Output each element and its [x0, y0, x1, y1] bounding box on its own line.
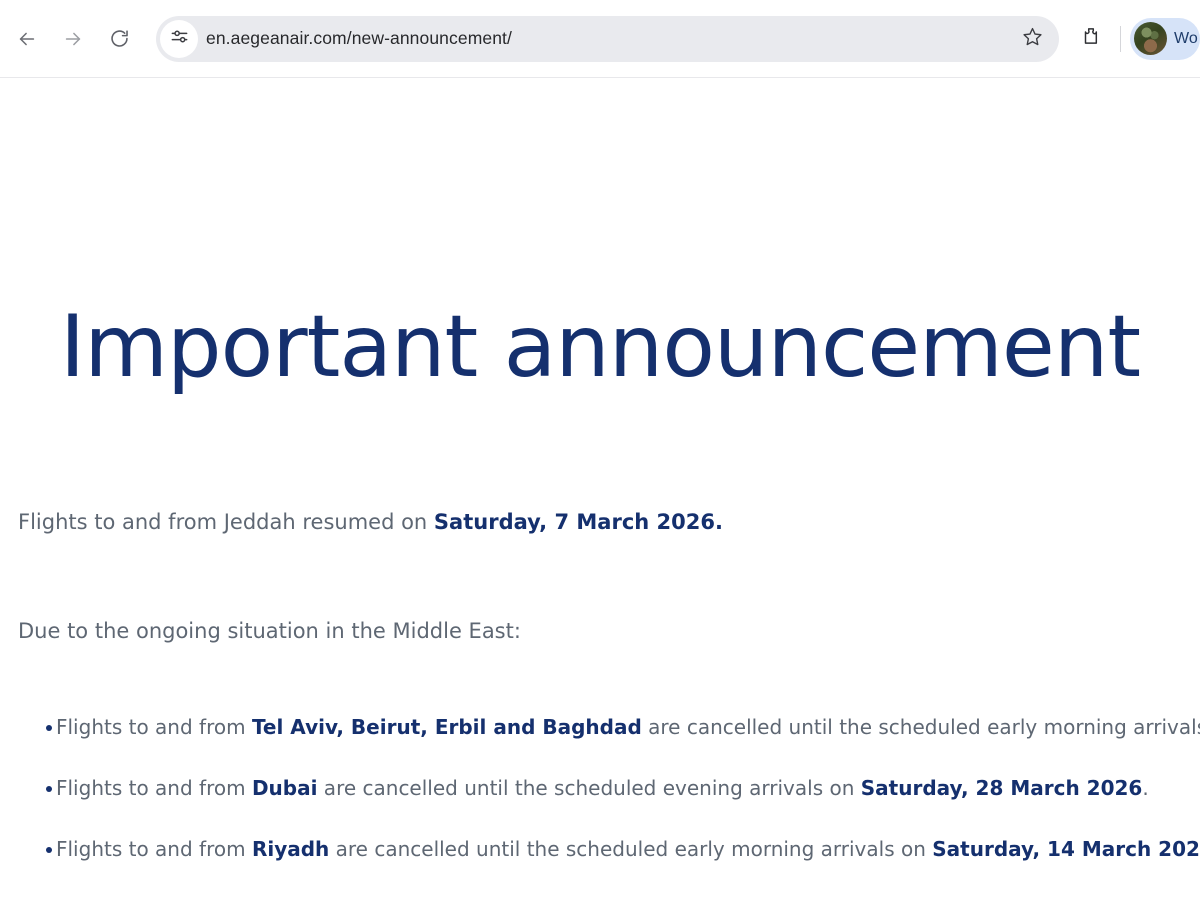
bullet-dot-icon	[46, 786, 52, 792]
site-settings-tune-icon	[170, 27, 189, 51]
profile-name: Wo	[1174, 30, 1198, 48]
list-item: Flights to and from Dubai are cancelled …	[18, 775, 1200, 802]
bullet-date: Saturday, 28 March 2026	[861, 776, 1143, 800]
page-title: Important announcement	[0, 304, 1200, 390]
forward-arrow-icon	[62, 28, 84, 50]
jeddah-resumed-paragraph: Flights to and from Jeddah resumed on Sa…	[18, 508, 1200, 536]
back-button[interactable]	[10, 22, 44, 56]
bullet-lead-text: Flights to and from	[56, 776, 252, 800]
toolbar-divider	[1120, 26, 1121, 52]
user-avatar	[1134, 22, 1167, 55]
browser-toolbar: en.aegeanair.com/new-announcement/ Wo	[0, 0, 1200, 78]
bullet-text: Flights to and from Dubai are cancelled …	[56, 776, 1149, 800]
reload-button[interactable]	[102, 22, 136, 56]
jeddah-resume-date: Saturday, 7 March 2026.	[434, 510, 723, 534]
url-text[interactable]: en.aegeanair.com/new-announcement/	[206, 28, 1013, 49]
bookmark-star-icon	[1022, 26, 1043, 52]
jeddah-lead-text: Flights to and from Jeddah resumed on	[18, 510, 434, 534]
extensions-puzzle-icon	[1080, 25, 1102, 52]
address-bar[interactable]: en.aegeanair.com/new-announcement/	[156, 16, 1059, 62]
bullet-lead-text: Flights to and from	[56, 837, 252, 861]
bullet-date: Saturday, 14 March 2026	[932, 837, 1200, 861]
site-settings-button[interactable]	[160, 20, 198, 58]
bullet-middle-text: are cancelled until the scheduled early …	[329, 837, 932, 861]
bullet-tail-text: .	[1142, 776, 1148, 800]
list-item: Flights to and from Riyadh are cancelled…	[18, 836, 1200, 863]
bullet-routes: Dubai	[252, 776, 318, 800]
bullet-text: Flights to and from Riyadh are cancelled…	[56, 837, 1200, 861]
bullet-dot-icon	[46, 725, 52, 731]
back-arrow-icon	[16, 28, 38, 50]
profile-button[interactable]: Wo	[1130, 18, 1200, 60]
forward-button[interactable]	[56, 22, 90, 56]
reload-icon	[109, 28, 130, 49]
bullet-lead-text: Flights to and from	[56, 715, 252, 739]
bullet-dot-icon	[46, 847, 52, 853]
cancellation-list: Flights to and from Tel Aviv, Beirut, Er…	[18, 714, 1200, 863]
announcement-body: Flights to and from Jeddah resumed on Sa…	[18, 508, 1200, 863]
bullet-routes: Riyadh	[252, 837, 329, 861]
bullet-middle-text: are cancelled until the scheduled early …	[642, 715, 1200, 739]
page-content: Important announcement Flights to and fr…	[0, 78, 1200, 900]
reason-paragraph: Due to the ongoing situation in the Midd…	[18, 617, 1200, 645]
bookmark-button[interactable]	[1013, 20, 1051, 58]
list-item: Flights to and from Tel Aviv, Beirut, Er…	[18, 714, 1200, 741]
bullet-routes: Tel Aviv, Beirut, Erbil and Baghdad	[252, 715, 642, 739]
bullet-text: Flights to and from Tel Aviv, Beirut, Er…	[56, 715, 1200, 739]
extensions-button[interactable]	[1071, 19, 1111, 59]
bullet-middle-text: are cancelled until the scheduled evenin…	[317, 776, 860, 800]
